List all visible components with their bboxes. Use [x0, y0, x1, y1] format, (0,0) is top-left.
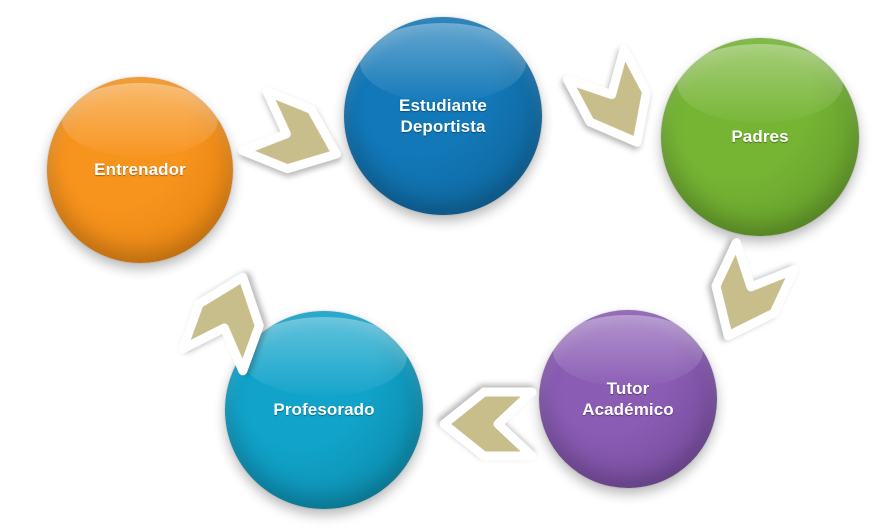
chevron-arrow-icon: [243, 91, 349, 183]
cycle-diagram: Entrenador Estudiante Deportista Padres …: [0, 0, 883, 531]
chevron-arrow-icon: [699, 243, 794, 350]
node-label-tutor-academico: Tutor Académico: [567, 378, 689, 421]
node-label-estudiante-deportista: Estudiante Deportista: [376, 95, 511, 138]
node-label-entrenador: Entrenador: [88, 159, 192, 180]
chevron-arrow-icon: [183, 266, 273, 371]
node-label-padres: Padres: [725, 126, 794, 147]
arrow-tutor-to-profesorado: [416, 356, 546, 486]
chevron-arrow-icon: [444, 392, 532, 456]
node-label-profesorado: Profesorado: [267, 399, 380, 420]
chevron-arrow-icon: [567, 50, 665, 158]
